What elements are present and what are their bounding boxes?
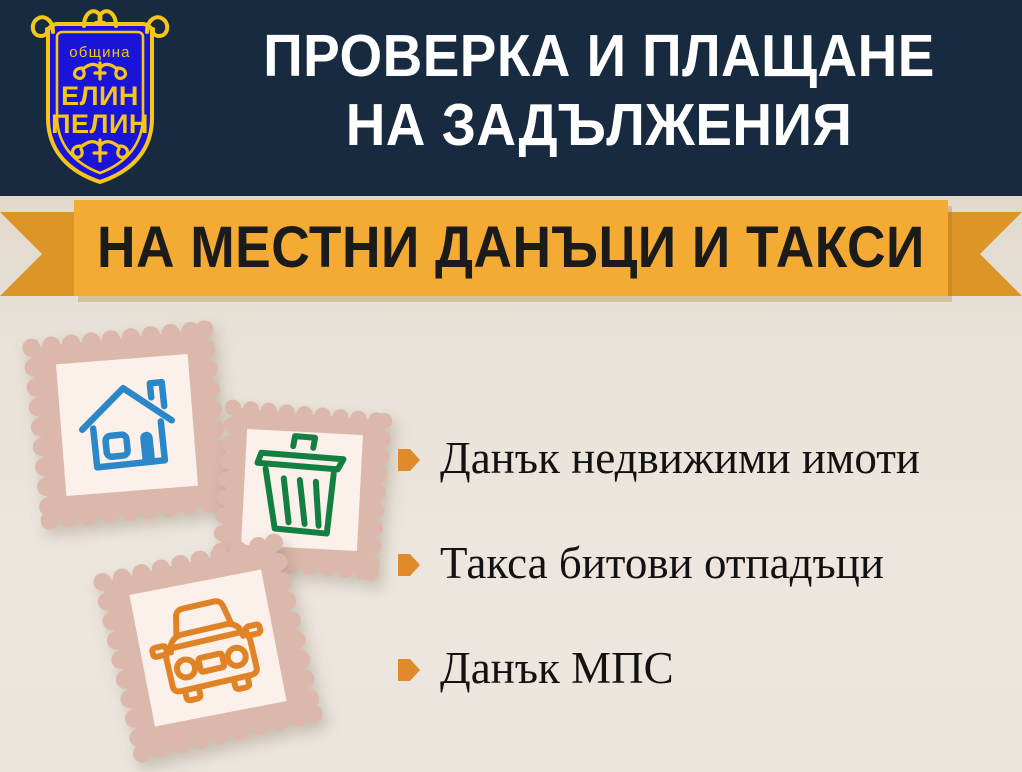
list-item-label: Данък недвижими имоти: [440, 432, 920, 484]
page-title-line-2: НА ЗАДЪЛЖЕНИЯ: [219, 91, 980, 160]
arrow-pentagon-icon: [398, 447, 420, 473]
poster-root: община ЕЛИН ПЕЛИН ПРОВЕРКА И ПЛАЩАНЕ НА …: [0, 0, 1022, 772]
page-title-line-1: ПРОВЕРКА И ПЛАЩАНЕ: [219, 22, 980, 91]
arrow-pentagon-icon: [398, 657, 420, 683]
list-item-label: Данък МПС: [440, 642, 674, 694]
list-item[interactable]: Данък недвижими имоти: [398, 430, 1012, 486]
arrow-pentagon-icon: [398, 552, 420, 578]
tax-types-list: Данък недвижими имоти Такса битови отпад…: [398, 430, 1012, 745]
coat-of-arms-icon: община ЕЛИН ПЕЛИН: [26, 6, 174, 190]
logo-name-line1: ЕЛИН: [61, 81, 139, 111]
list-item[interactable]: Данък МПС: [398, 640, 1012, 696]
list-item-label: Такса битови отпадъци: [440, 537, 884, 589]
header-bar: община ЕЛИН ПЕЛИН ПРОВЕРКА И ПЛАЩАНЕ НА …: [0, 0, 1022, 196]
list-item[interactable]: Такса битови отпадъци: [398, 535, 1012, 591]
page-title: ПРОВЕРКА И ПЛАЩАНЕ НА ЗАДЪЛЖЕНИЯ: [190, 22, 1008, 160]
logo-name-line2: ПЕЛИН: [51, 109, 149, 139]
stamp-vehicle: [92, 532, 324, 764]
subtitle-ribbon: НА МЕСТНИ ДАНЪЦИ И ТАКСИ: [0, 196, 1022, 308]
ribbon-label: НА МЕСТНИ ДАНЪЦИ И ТАКСИ: [97, 218, 925, 278]
municipality-logo: община ЕЛИН ПЕЛИН: [26, 6, 174, 190]
stamp-vehicle-graphic: [92, 532, 324, 764]
ribbon-face: НА МЕСТНИ ДАНЪЦИ И ТАКСИ: [74, 200, 948, 296]
logo-top-word: община: [69, 44, 130, 61]
